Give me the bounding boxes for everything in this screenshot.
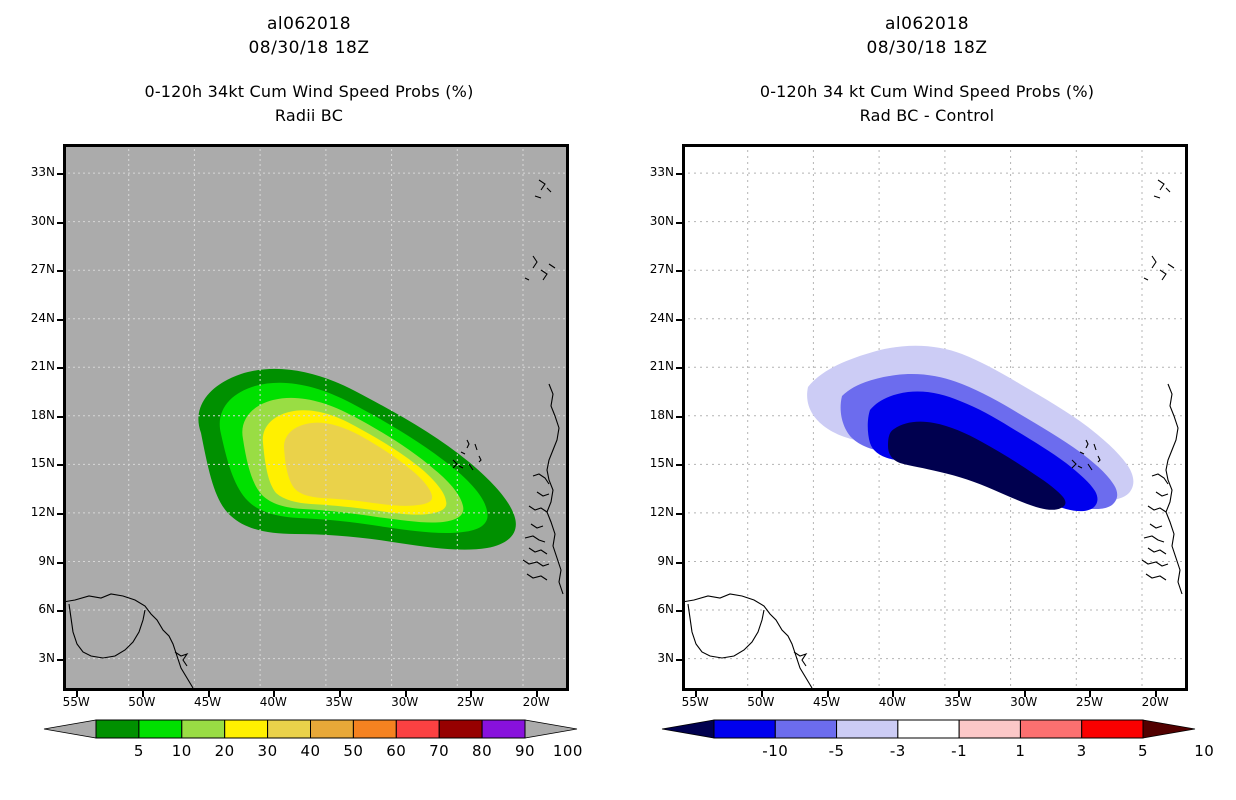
colorbar-swatch-3	[898, 720, 959, 738]
y-tick-mark	[676, 367, 683, 369]
y-tick-mark	[676, 610, 683, 612]
y-tick-label-24N: 24N	[628, 311, 674, 325]
colorbar-swatch-4	[959, 720, 1020, 738]
plot-frame-right	[682, 144, 1188, 691]
x-tick-label-55W: 55W	[673, 695, 717, 709]
x-tick-label-20W: 20W	[1133, 695, 1177, 709]
x-tick-mark	[273, 691, 275, 697]
y-tick-mark	[57, 173, 64, 175]
x-tick-mark	[339, 691, 341, 697]
x-tick-label-45W: 45W	[186, 695, 230, 709]
y-tick-mark	[57, 659, 64, 661]
x-tick-mark	[827, 691, 829, 697]
x-tick-label-35W: 35W	[317, 695, 361, 709]
y-tick-label-12N: 12N	[9, 505, 55, 519]
x-tick-label-20W: 20W	[514, 695, 558, 709]
y-tick-label-3N: 3N	[9, 651, 55, 665]
x-tick-mark	[536, 691, 538, 697]
colorbar-tick-label-4: 1	[995, 742, 1045, 760]
x-tick-label-50W: 50W	[739, 695, 783, 709]
panel-rad-bc-minus-control: al062018 08/30/18 18Z 0-120h 34 kt Cum W…	[618, 0, 1236, 800]
y-tick-label-12N: 12N	[628, 505, 674, 519]
y-tick-label-6N: 6N	[9, 602, 55, 616]
y-tick-mark	[676, 319, 683, 321]
x-tick-label-55W: 55W	[54, 695, 98, 709]
y-tick-label-9N: 9N	[628, 554, 674, 568]
colorbar-swatch-2	[182, 720, 225, 738]
colorbar-tick-label-7: 10	[1179, 742, 1229, 760]
title-main-left: 0-120h 34kt Cum Wind Speed Probs (%)	[0, 80, 618, 104]
colorbar-under-arrow	[44, 720, 96, 738]
probability-colorbar	[38, 716, 583, 742]
colorbar-swatch-1	[139, 720, 182, 738]
colorbar-swatch-5	[311, 720, 354, 738]
x-tick-mark	[892, 691, 894, 697]
difference-colorbar	[656, 716, 1201, 742]
x-tick-mark	[142, 691, 144, 697]
x-tick-mark	[1155, 691, 1157, 697]
colorbar-under-arrow	[662, 720, 714, 738]
y-tick-label-15N: 15N	[9, 456, 55, 470]
y-tick-mark	[676, 464, 683, 466]
difference-colorbar-labels: -10-5-3-113510	[656, 742, 1201, 764]
colorbar-tick-label-2: -3	[873, 742, 923, 760]
y-tick-label-30N: 30N	[628, 214, 674, 228]
colorbar-tick-label-3: -1	[934, 742, 984, 760]
x-tick-mark	[958, 691, 960, 697]
x-tick-label-25W: 25W	[448, 695, 492, 709]
y-tick-label-33N: 33N	[9, 165, 55, 179]
colorbar-swatch-6	[353, 720, 396, 738]
y-tick-label-18N: 18N	[9, 408, 55, 422]
title-sub-left: Radii BC	[0, 104, 618, 128]
x-tick-label-45W: 45W	[805, 695, 849, 709]
y-tick-label-21N: 21N	[9, 359, 55, 373]
y-tick-mark	[57, 222, 64, 224]
x-tick-label-40W: 40W	[251, 695, 295, 709]
x-tick-mark	[76, 691, 78, 697]
y-tick-label-15N: 15N	[628, 456, 674, 470]
y-tick-label-27N: 27N	[628, 262, 674, 276]
y-tick-label-6N: 6N	[628, 602, 674, 616]
colorbar-tick-label-1: -5	[812, 742, 862, 760]
colorbar-over-arrow	[525, 720, 577, 738]
y-tick-mark	[57, 562, 64, 564]
colorbar-over-arrow	[1143, 720, 1195, 738]
colorbar-tick-label-6: 5	[1118, 742, 1168, 760]
panel-right-titles: al062018 08/30/18 18Z 0-120h 34 kt Cum W…	[618, 0, 1236, 128]
x-tick-mark	[695, 691, 697, 697]
x-tick-mark	[761, 691, 763, 697]
y-tick-mark	[676, 659, 683, 661]
y-tick-mark	[57, 416, 64, 418]
colorbar-swatch-0	[714, 720, 775, 738]
y-tick-mark	[57, 367, 64, 369]
storm-id-right: al062018	[618, 12, 1236, 36]
x-tick-label-30W: 30W	[1002, 695, 1046, 709]
y-tick-label-24N: 24N	[9, 311, 55, 325]
datetime-right: 08/30/18 18Z	[618, 36, 1236, 60]
colorbar-swatch-1	[775, 720, 836, 738]
y-tick-label-18N: 18N	[628, 408, 674, 422]
y-tick-label-3N: 3N	[628, 651, 674, 665]
x-tick-label-30W: 30W	[383, 695, 427, 709]
title-main-right: 0-120h 34 kt Cum Wind Speed Probs (%)	[618, 80, 1236, 104]
y-tick-mark	[676, 416, 683, 418]
colorbar-swatch-0	[96, 720, 139, 738]
x-tick-label-35W: 35W	[936, 695, 980, 709]
y-tick-mark	[57, 319, 64, 321]
colorbar-tick-label-0: -10	[750, 742, 800, 760]
x-tick-label-25W: 25W	[1067, 695, 1111, 709]
y-tick-mark	[676, 222, 683, 224]
colorbar-swatch-6	[1082, 720, 1143, 738]
y-tick-mark	[57, 610, 64, 612]
x-tick-mark	[470, 691, 472, 697]
x-tick-label-50W: 50W	[120, 695, 164, 709]
y-tick-label-21N: 21N	[628, 359, 674, 373]
y-tick-label-9N: 9N	[9, 554, 55, 568]
y-tick-label-27N: 27N	[9, 262, 55, 276]
panel-left-titles: al062018 08/30/18 18Z 0-120h 34kt Cum Wi…	[0, 0, 618, 128]
colorbar-tick-label-5: 3	[1057, 742, 1107, 760]
y-tick-mark	[57, 513, 64, 515]
datetime-left: 08/30/18 18Z	[0, 36, 618, 60]
y-tick-mark	[57, 464, 64, 466]
panel-radii-bc: al062018 08/30/18 18Z 0-120h 34kt Cum Wi…	[0, 0, 618, 800]
y-tick-mark	[57, 270, 64, 272]
wind-speed-probability-figure: al062018 08/30/18 18Z 0-120h 34kt Cum Wi…	[0, 0, 1236, 800]
storm-id-left: al062018	[0, 12, 618, 36]
y-tick-label-30N: 30N	[9, 214, 55, 228]
probability-colorbar-labels: 5102030405060708090100	[38, 742, 583, 764]
y-tick-mark	[676, 513, 683, 515]
title-sub-right: Rad BC - Control	[618, 104, 1236, 128]
colorbar-swatch-8	[439, 720, 482, 738]
x-tick-mark	[405, 691, 407, 697]
colorbar-swatch-3	[225, 720, 268, 738]
y-tick-mark	[676, 173, 683, 175]
colorbar-swatch-9	[482, 720, 525, 738]
colorbar-swatch-7	[396, 720, 439, 738]
colorbar-swatch-4	[268, 720, 311, 738]
y-tick-mark	[676, 270, 683, 272]
x-tick-label-40W: 40W	[870, 695, 914, 709]
y-tick-mark	[676, 562, 683, 564]
plot-frame-left	[63, 144, 569, 691]
colorbar-tick-label-10: 100	[543, 742, 593, 760]
x-tick-mark	[1024, 691, 1026, 697]
x-tick-mark	[208, 691, 210, 697]
colorbar-swatch-2	[837, 720, 898, 738]
colorbar-swatch-5	[1020, 720, 1081, 738]
y-tick-label-33N: 33N	[628, 165, 674, 179]
x-tick-mark	[1089, 691, 1091, 697]
